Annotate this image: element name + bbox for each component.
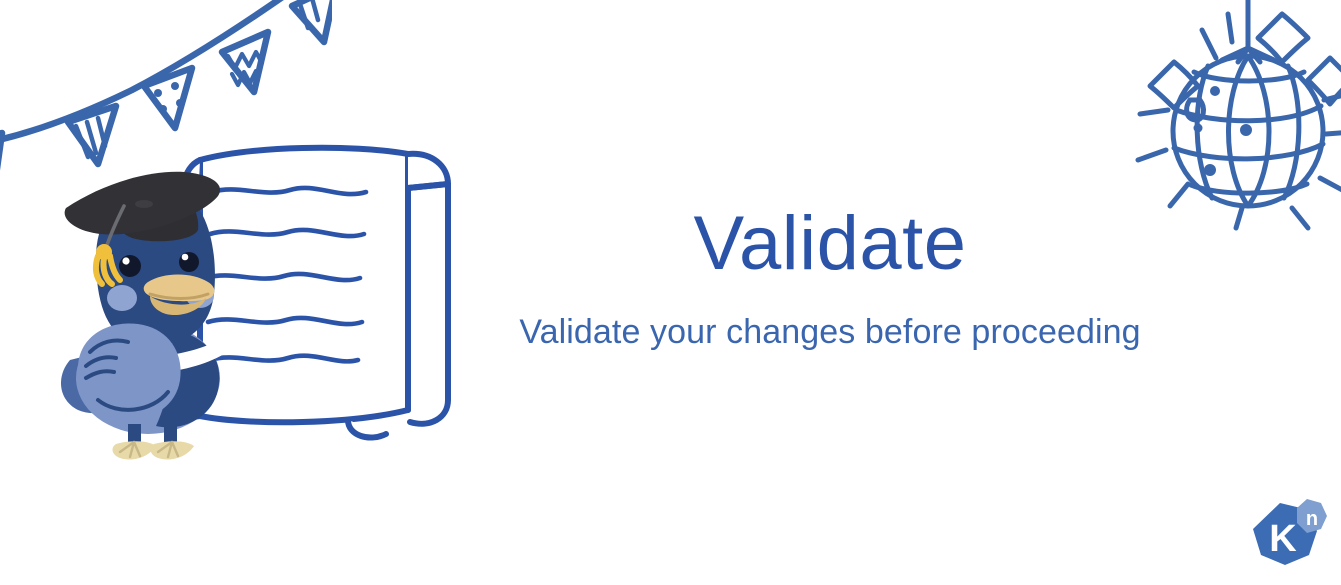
bird-eye-left [119, 255, 141, 277]
bird-eye-right [179, 252, 199, 272]
diploma-scroll [185, 148, 448, 438]
page-subtitle: Validate your changes before proceeding [460, 313, 1200, 352]
hero-text-block: Validate Validate your changes before pr… [460, 205, 1200, 352]
bird-mascot [61, 172, 224, 460]
graduate-bird-with-scroll-illustration [52, 138, 462, 468]
brand-logo[interactable]: K n [1247, 497, 1331, 575]
logo-primary-letter: K [1269, 518, 1297, 560]
page-title: Validate [460, 205, 1200, 283]
discoball-decoration [1118, 0, 1341, 232]
hero-banner: Validate Validate your changes before pr… [0, 0, 1341, 585]
logo-badge-letter: n [1306, 508, 1318, 530]
